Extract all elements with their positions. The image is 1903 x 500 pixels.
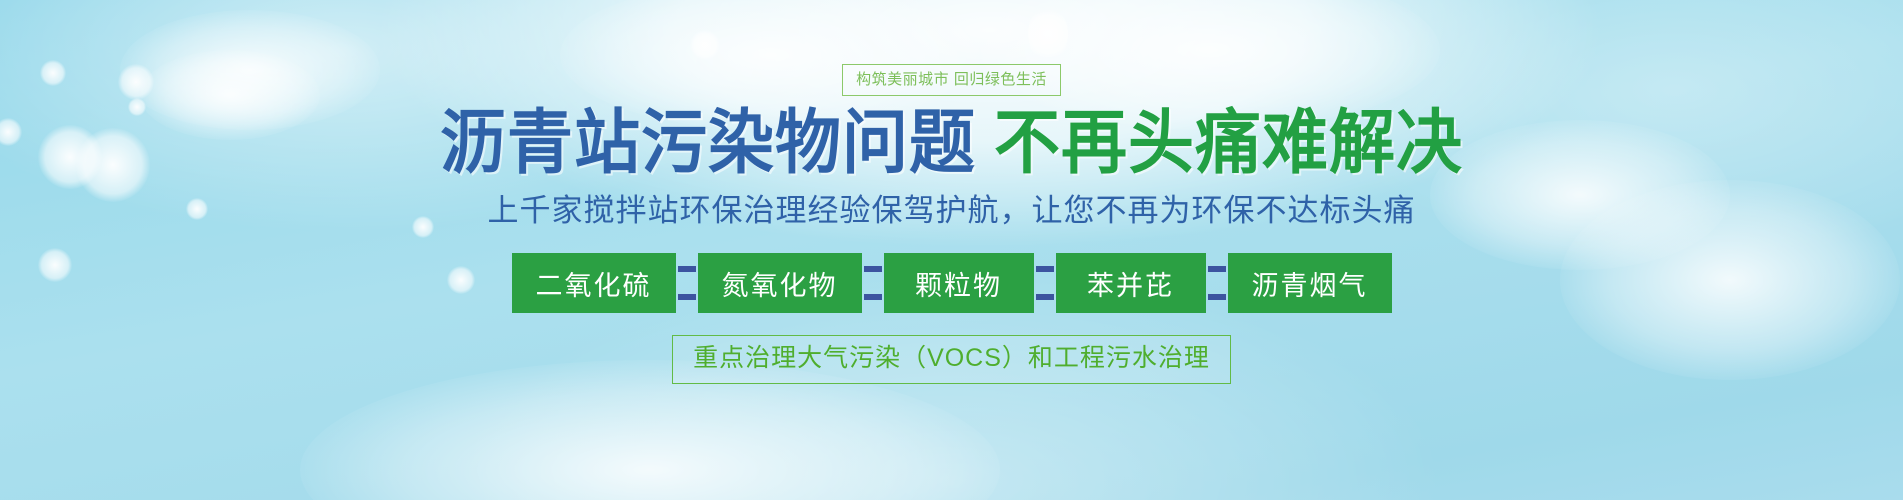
pollutant-tag-strip: 二氧化硫 氮氧化物 颗粒物 苯并芘 沥青烟气	[512, 253, 1392, 313]
tag-separator-icon	[1206, 253, 1228, 313]
tag-separator-icon	[676, 253, 698, 313]
tag-item[interactable]: 颗粒物	[884, 253, 1034, 313]
tag-item[interactable]: 苯并芘	[1056, 253, 1206, 313]
page-title: 沥青站污染物问题 不再头痛难解决	[440, 110, 1463, 176]
tag-item[interactable]: 二氧化硫	[512, 253, 676, 313]
tag-separator-icon	[1034, 253, 1056, 313]
subtitle-text: 上千家搅拌站环保治理经验保驾护航，让您不再为环保不达标头痛	[488, 192, 1416, 229]
focus-note-box: 重点治理大气污染（VOCS）和工程污水治理	[672, 335, 1231, 384]
tagline-badge: 构筑美丽城市 回归绿色生活	[842, 64, 1061, 96]
banner-content: 构筑美丽城市 回归绿色生活 沥青站污染物问题 不再头痛难解决 上千家搅拌站环保治…	[0, 0, 1903, 500]
promo-banner: 构筑美丽城市 回归绿色生活 沥青站污染物问题 不再头痛难解决 上千家搅拌站环保治…	[0, 0, 1903, 500]
headline-green-text: 不再头痛难解决	[994, 108, 1463, 178]
tag-item[interactable]: 沥青烟气	[1228, 253, 1392, 313]
tag-item[interactable]: 氮氧化物	[698, 253, 862, 313]
tag-separator-icon	[862, 253, 884, 313]
headline-blue-text: 沥青站污染物问题	[440, 108, 976, 178]
